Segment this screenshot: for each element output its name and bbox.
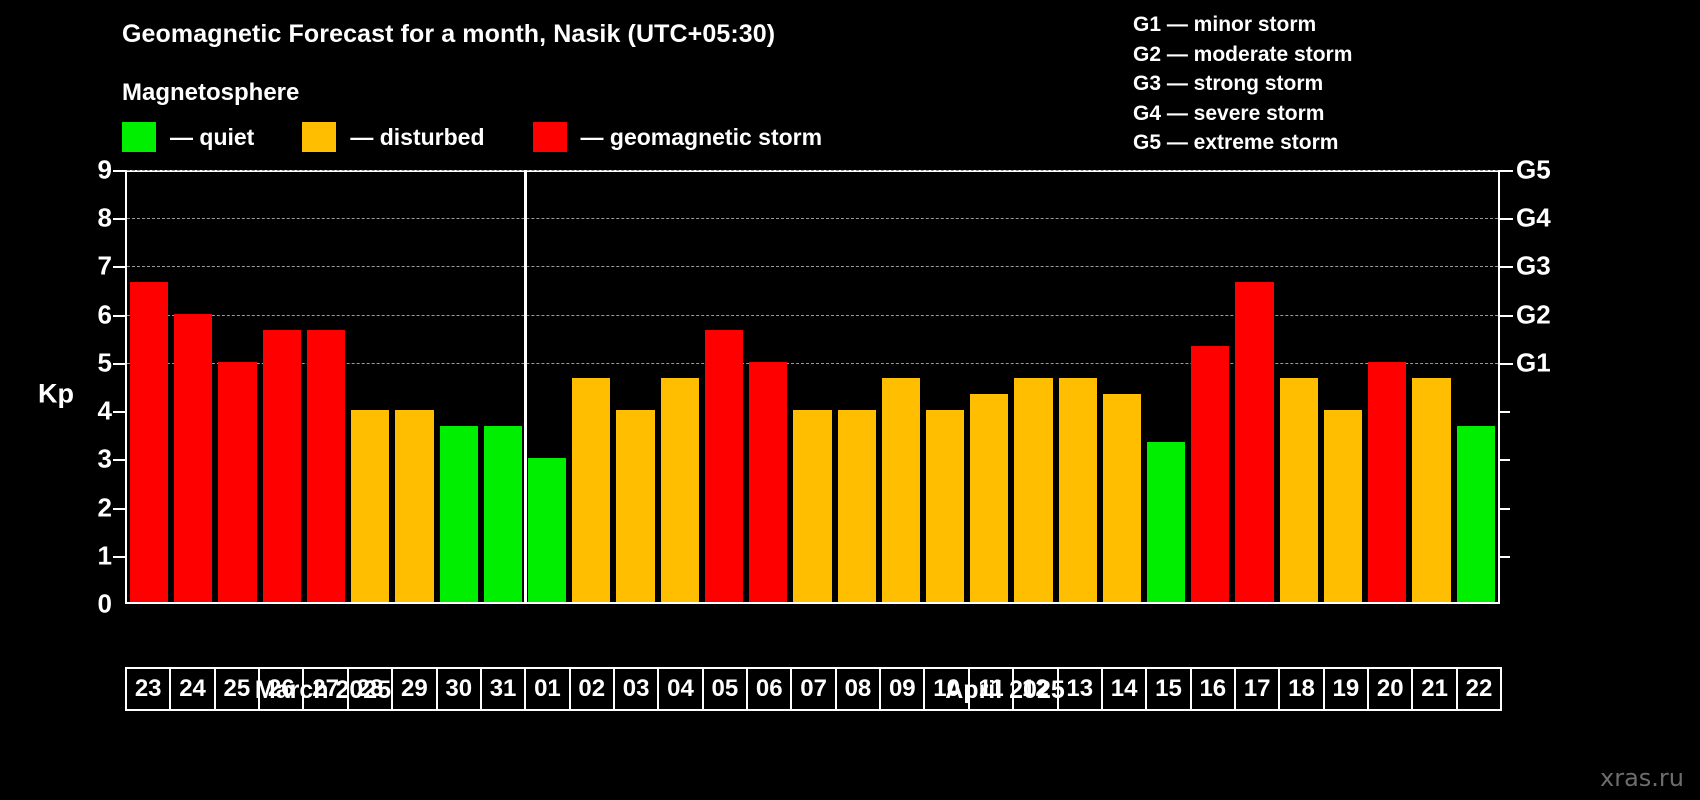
y-tick-3 xyxy=(113,459,125,461)
date-cell-08[interactable]: 08 xyxy=(835,667,881,711)
y-tick-label-3: 3 xyxy=(72,444,112,475)
date-cell-09[interactable]: 09 xyxy=(879,667,925,711)
bar-march-30[interactable] xyxy=(440,426,478,602)
legend-swatch-disturbed xyxy=(302,122,336,152)
date-cell-16[interactable]: 16 xyxy=(1190,667,1236,711)
y-tick-label-1: 1 xyxy=(72,540,112,571)
g-tick-g1 xyxy=(1500,363,1513,365)
y-tick-9 xyxy=(113,170,125,172)
bar-slot xyxy=(613,172,657,602)
y-tick-label-9: 9 xyxy=(72,155,112,186)
g-tick-g5 xyxy=(1500,170,1513,172)
storm-scale-row-g5: G5 — extreme storm xyxy=(1133,128,1352,158)
bar-slot xyxy=(1454,172,1498,602)
bar-slot xyxy=(304,172,348,602)
watermark: xras.ru xyxy=(1600,764,1684,792)
g-label-g3: G3 xyxy=(1516,251,1551,282)
bar-series xyxy=(127,172,1498,602)
date-cell-24[interactable]: 24 xyxy=(169,667,215,711)
bar-april-04[interactable] xyxy=(661,378,699,602)
y-tick-6 xyxy=(113,315,125,317)
storm-scale-row-g1: G1 — minor storm xyxy=(1133,10,1352,40)
g-minor-tick-4 xyxy=(1500,411,1510,413)
date-cell-19[interactable]: 19 xyxy=(1323,667,1369,711)
storm-scale-key: G1 — minor stormG2 — moderate stormG3 — … xyxy=(1133,10,1352,158)
date-cell-15[interactable]: 15 xyxy=(1145,667,1191,711)
bar-april-14[interactable] xyxy=(1103,394,1141,602)
bar-slot xyxy=(569,172,613,602)
legend-swatch-quiet xyxy=(122,122,156,152)
bar-march-26[interactable] xyxy=(263,330,301,602)
bar-slot xyxy=(835,172,879,602)
date-cell-25[interactable]: 25 xyxy=(214,667,260,711)
storm-scale-row-g3: G3 — strong storm xyxy=(1133,69,1352,99)
date-cell-18[interactable]: 18 xyxy=(1278,667,1324,711)
bar-march-23[interactable] xyxy=(130,282,168,602)
y-tick-label-0: 0 xyxy=(72,589,112,620)
g-label-g1: G1 xyxy=(1516,347,1551,378)
y-tick-label-5: 5 xyxy=(72,347,112,378)
bar-april-12[interactable] xyxy=(1014,378,1052,602)
bar-slot xyxy=(1056,172,1100,602)
date-cell-30[interactable]: 30 xyxy=(436,667,482,711)
date-cell-20[interactable]: 20 xyxy=(1367,667,1413,711)
legend-item-disturbed: — disturbed xyxy=(302,122,484,152)
bar-slot xyxy=(1011,172,1055,602)
date-cell-31[interactable]: 31 xyxy=(480,667,526,711)
bar-march-31[interactable] xyxy=(484,426,522,602)
bar-april-08[interactable] xyxy=(838,410,876,602)
y-tick-label-7: 7 xyxy=(72,251,112,282)
y-tick-1 xyxy=(113,556,125,558)
g-label-g5: G5 xyxy=(1516,155,1551,186)
bar-march-24[interactable] xyxy=(174,314,212,602)
g-label-g2: G2 xyxy=(1516,299,1551,330)
legend-label-disturbed: — disturbed xyxy=(350,124,484,151)
y-tick-label-2: 2 xyxy=(72,492,112,523)
g-minor-tick-3 xyxy=(1500,459,1510,461)
bar-april-09[interactable] xyxy=(882,378,920,602)
g-tick-g3 xyxy=(1500,266,1513,268)
bar-slot xyxy=(746,172,790,602)
bar-slot xyxy=(1144,172,1188,602)
g-minor-tick-1 xyxy=(1500,556,1510,558)
bar-april-15[interactable] xyxy=(1147,442,1185,602)
bar-slot xyxy=(1321,172,1365,602)
chart-plot-area xyxy=(125,170,1500,604)
date-cell-05[interactable]: 05 xyxy=(702,667,748,711)
bar-april-06[interactable] xyxy=(749,362,787,602)
bar-slot xyxy=(1100,172,1144,602)
date-cell-01[interactable]: 01 xyxy=(524,667,570,711)
legend-item-storm: — geomagnetic storm xyxy=(533,122,823,152)
date-cell-07[interactable]: 07 xyxy=(790,667,836,711)
bar-march-25[interactable] xyxy=(218,362,256,602)
bar-april-11[interactable] xyxy=(970,394,1008,602)
bar-slot xyxy=(215,172,259,602)
g-tick-g4 xyxy=(1500,218,1513,220)
date-cell-14[interactable]: 14 xyxy=(1101,667,1147,711)
bar-slot xyxy=(1232,172,1276,602)
date-cell-03[interactable]: 03 xyxy=(613,667,659,711)
bar-april-16[interactable] xyxy=(1191,346,1229,602)
bar-slot xyxy=(127,172,171,602)
storm-scale-row-g4: G4 — severe storm xyxy=(1133,99,1352,129)
bar-april-22[interactable] xyxy=(1457,426,1495,602)
date-cell-29[interactable]: 29 xyxy=(391,667,437,711)
date-cell-21[interactable]: 21 xyxy=(1411,667,1457,711)
y-tick-label-4: 4 xyxy=(72,396,112,427)
date-cell-04[interactable]: 04 xyxy=(657,667,703,711)
bar-april-17[interactable] xyxy=(1235,282,1273,602)
date-cell-22[interactable]: 22 xyxy=(1456,667,1502,711)
bar-april-01[interactable] xyxy=(528,458,566,602)
g-tick-g2 xyxy=(1500,315,1513,317)
bar-april-07[interactable] xyxy=(793,410,831,602)
date-cell-06[interactable]: 06 xyxy=(746,667,792,711)
legend-label-storm: — geomagnetic storm xyxy=(581,124,823,151)
bar-slot xyxy=(171,172,215,602)
bar-april-10[interactable] xyxy=(926,410,964,602)
bar-april-18[interactable] xyxy=(1280,378,1318,602)
gridline-kp-9 xyxy=(127,170,1498,171)
bar-april-21[interactable] xyxy=(1412,378,1450,602)
bar-march-27[interactable] xyxy=(307,330,345,602)
bar-slot xyxy=(658,172,702,602)
bar-slot xyxy=(967,172,1011,602)
y-axis-title: Kp xyxy=(38,379,74,410)
bar-slot xyxy=(481,172,525,602)
y-tick-5 xyxy=(113,363,125,365)
y-tick-8 xyxy=(113,218,125,220)
legend-item-quiet: — quiet xyxy=(122,122,254,152)
bar-slot xyxy=(437,172,481,602)
bar-march-28[interactable] xyxy=(351,410,389,602)
y-tick-2 xyxy=(113,508,125,510)
storm-scale-row-g2: G2 — moderate storm xyxy=(1133,40,1352,70)
bar-march-29[interactable] xyxy=(395,410,433,602)
bar-april-13[interactable] xyxy=(1059,378,1097,602)
g-label-g4: G4 xyxy=(1516,203,1551,234)
y-tick-7 xyxy=(113,266,125,268)
magnetosphere-heading: Magnetosphere xyxy=(122,79,299,107)
y-tick-label-6: 6 xyxy=(72,299,112,330)
month-separator xyxy=(524,170,527,604)
bar-slot xyxy=(1188,172,1232,602)
bar-slot xyxy=(702,172,746,602)
legend: — quiet— disturbed— geomagnetic storm xyxy=(122,122,870,152)
date-cell-02[interactable]: 02 xyxy=(569,667,615,711)
legend-swatch-storm xyxy=(533,122,567,152)
month-label-april: April 2025 xyxy=(945,676,1065,705)
bar-slot xyxy=(260,172,304,602)
bar-slot xyxy=(1277,172,1321,602)
bar-april-20[interactable] xyxy=(1368,362,1406,602)
bar-slot xyxy=(879,172,923,602)
page-title: Geomagnetic Forecast for a month, Nasik … xyxy=(122,20,775,49)
g-minor-tick-2 xyxy=(1500,508,1510,510)
bar-slot xyxy=(392,172,436,602)
bar-slot xyxy=(923,172,967,602)
y-tick-label-8: 8 xyxy=(72,203,112,234)
bar-slot xyxy=(348,172,392,602)
date-cell-23[interactable]: 23 xyxy=(125,667,171,711)
y-tick-4 xyxy=(113,411,125,413)
bar-slot xyxy=(1365,172,1409,602)
bar-slot xyxy=(790,172,834,602)
bar-april-02[interactable] xyxy=(572,378,610,602)
bar-april-19[interactable] xyxy=(1324,410,1362,602)
bar-april-03[interactable] xyxy=(616,410,654,602)
month-label-march: March 2025 xyxy=(255,676,391,705)
bar-april-05[interactable] xyxy=(705,330,743,602)
bar-slot xyxy=(1409,172,1453,602)
bar-slot xyxy=(525,172,569,602)
date-cell-17[interactable]: 17 xyxy=(1234,667,1280,711)
legend-label-quiet: — quiet xyxy=(170,124,254,151)
